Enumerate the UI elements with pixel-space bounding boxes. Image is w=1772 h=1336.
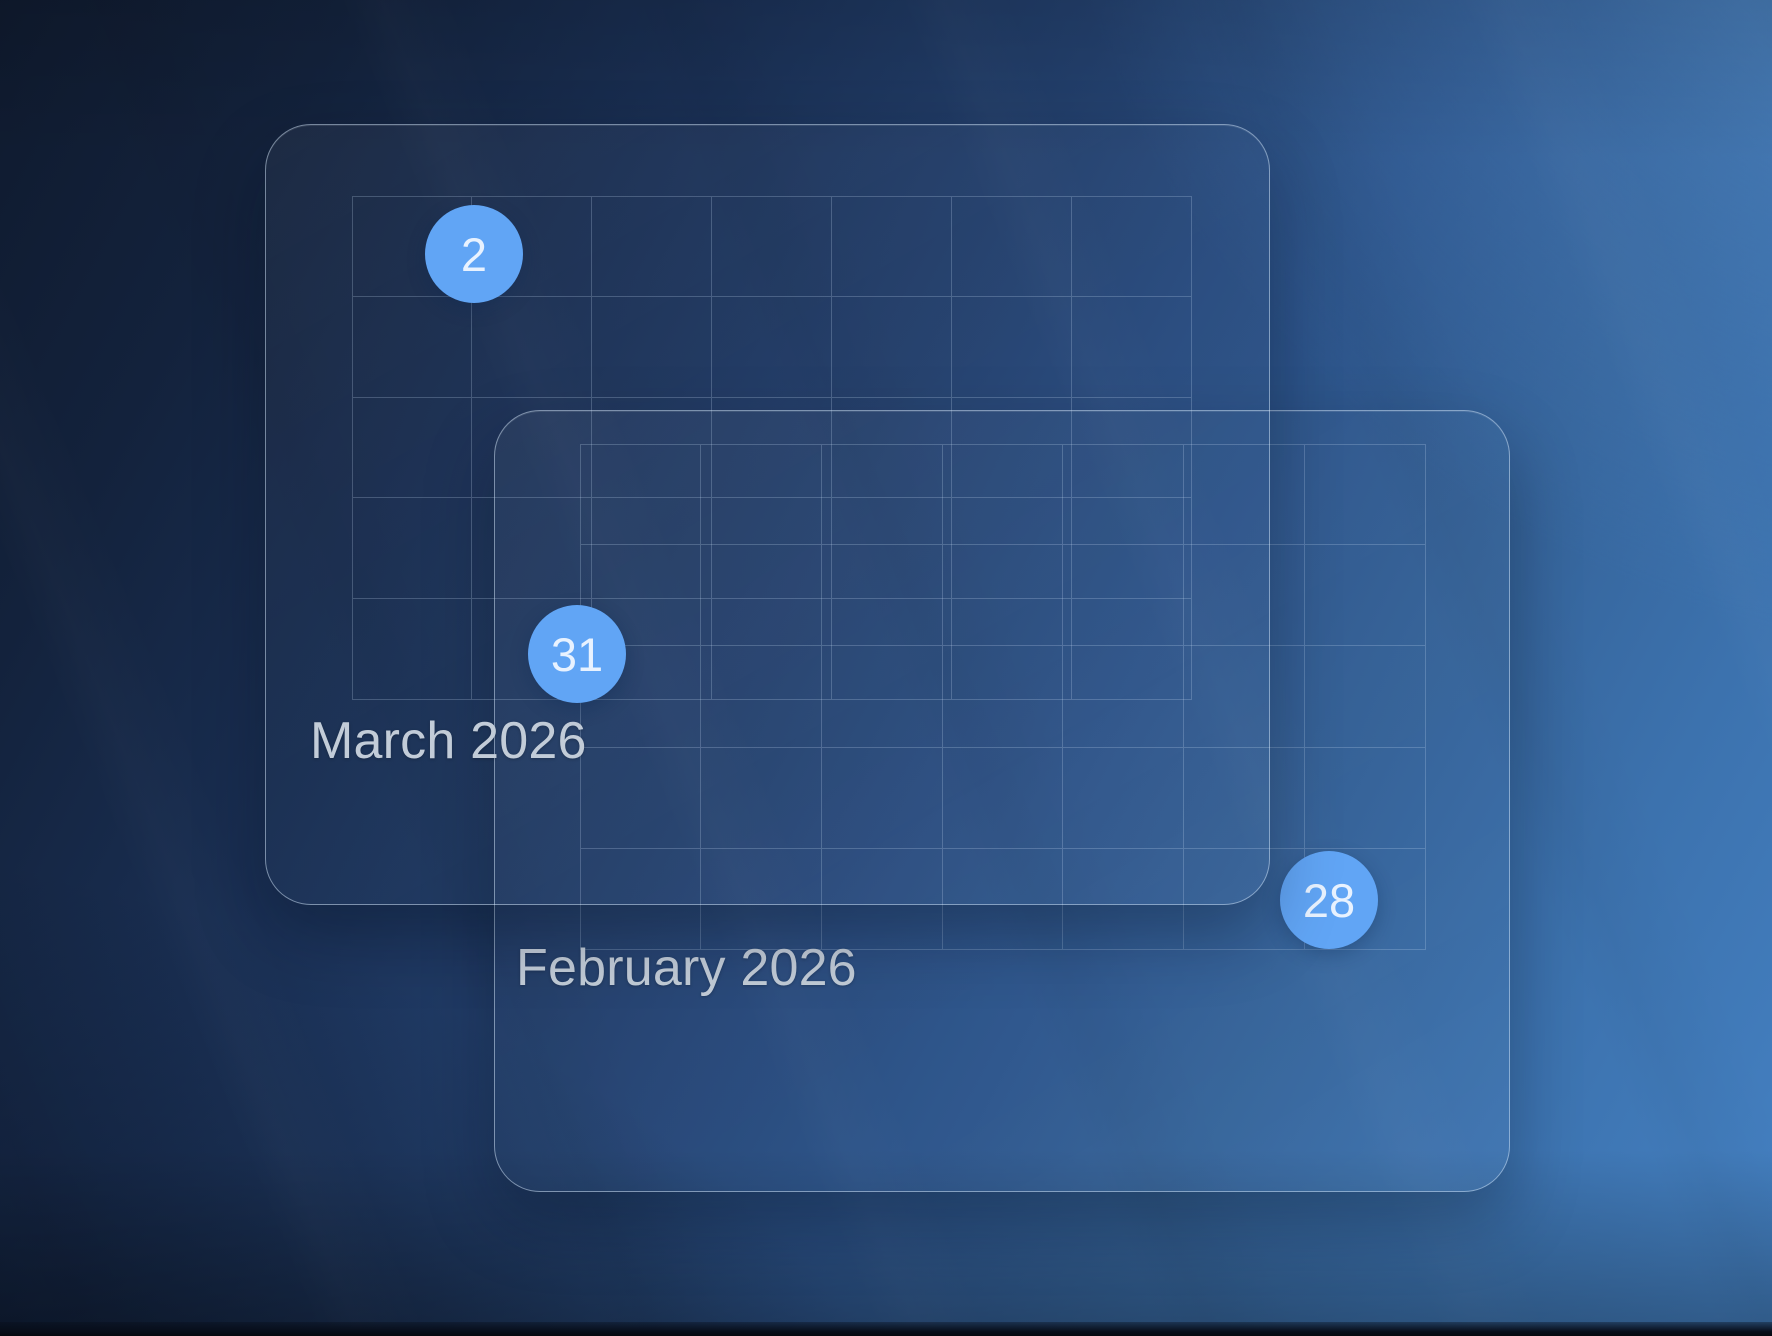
calendar-cell[interactable] — [1072, 599, 1192, 700]
calendar-cell[interactable] — [712, 398, 832, 499]
month-label-march: March 2026 — [310, 711, 587, 771]
day-badge-31[interactable]: 31 — [528, 605, 626, 703]
calendar-cell[interactable] — [472, 398, 592, 499]
calendar-cell[interactable] — [592, 498, 712, 599]
calendar-cell[interactable] — [592, 297, 712, 398]
calendar-cell[interactable] — [1305, 748, 1426, 849]
calendar-cell[interactable] — [352, 498, 472, 599]
calendar-cell[interactable] — [1305, 444, 1426, 545]
calendar-cell[interactable] — [952, 599, 1072, 700]
calendar-cell[interactable] — [952, 297, 1072, 398]
calendar-cell[interactable] — [1072, 498, 1192, 599]
calendar-cell[interactable] — [952, 398, 1072, 499]
calendar-cell[interactable] — [712, 297, 832, 398]
calendar-cell[interactable] — [1072, 196, 1192, 297]
calendar-cell[interactable] — [472, 297, 592, 398]
bottom-edge-bar — [0, 1322, 1772, 1336]
calendar-cell[interactable] — [832, 498, 952, 599]
calendar-cell[interactable] — [1072, 297, 1192, 398]
day-badge-28[interactable]: 28 — [1280, 851, 1378, 949]
calendar-cell[interactable] — [1305, 545, 1426, 646]
calendar-cell[interactable] — [832, 297, 952, 398]
calendar-cell[interactable] — [952, 196, 1072, 297]
calendar-cell[interactable] — [712, 599, 832, 700]
calendar-cell[interactable] — [592, 196, 712, 297]
month-label-february: February 2026 — [516, 938, 857, 998]
calendar-cell[interactable] — [592, 398, 712, 499]
day-badge-2[interactable]: 2 — [425, 205, 523, 303]
calendar-cell[interactable] — [352, 599, 472, 700]
calendar-cell[interactable] — [832, 599, 952, 700]
calendar-cell[interactable] — [952, 498, 1072, 599]
calendar-cell[interactable] — [472, 498, 592, 599]
calendar-cell[interactable] — [352, 398, 472, 499]
calendar-cell[interactable] — [712, 196, 832, 297]
calendar-cell[interactable] — [352, 297, 472, 398]
calendar-cell[interactable] — [832, 196, 952, 297]
calendar-cell[interactable] — [1305, 646, 1426, 747]
calendar-card-march[interactable]: March 2026 2 31 — [265, 124, 1270, 905]
screenshot-root: February 2026 28 March 2026 2 31 — [0, 0, 1772, 1336]
calendar-cell[interactable] — [832, 398, 952, 499]
calendar-cell[interactable] — [712, 498, 832, 599]
calendar-cell[interactable] — [1072, 398, 1192, 499]
